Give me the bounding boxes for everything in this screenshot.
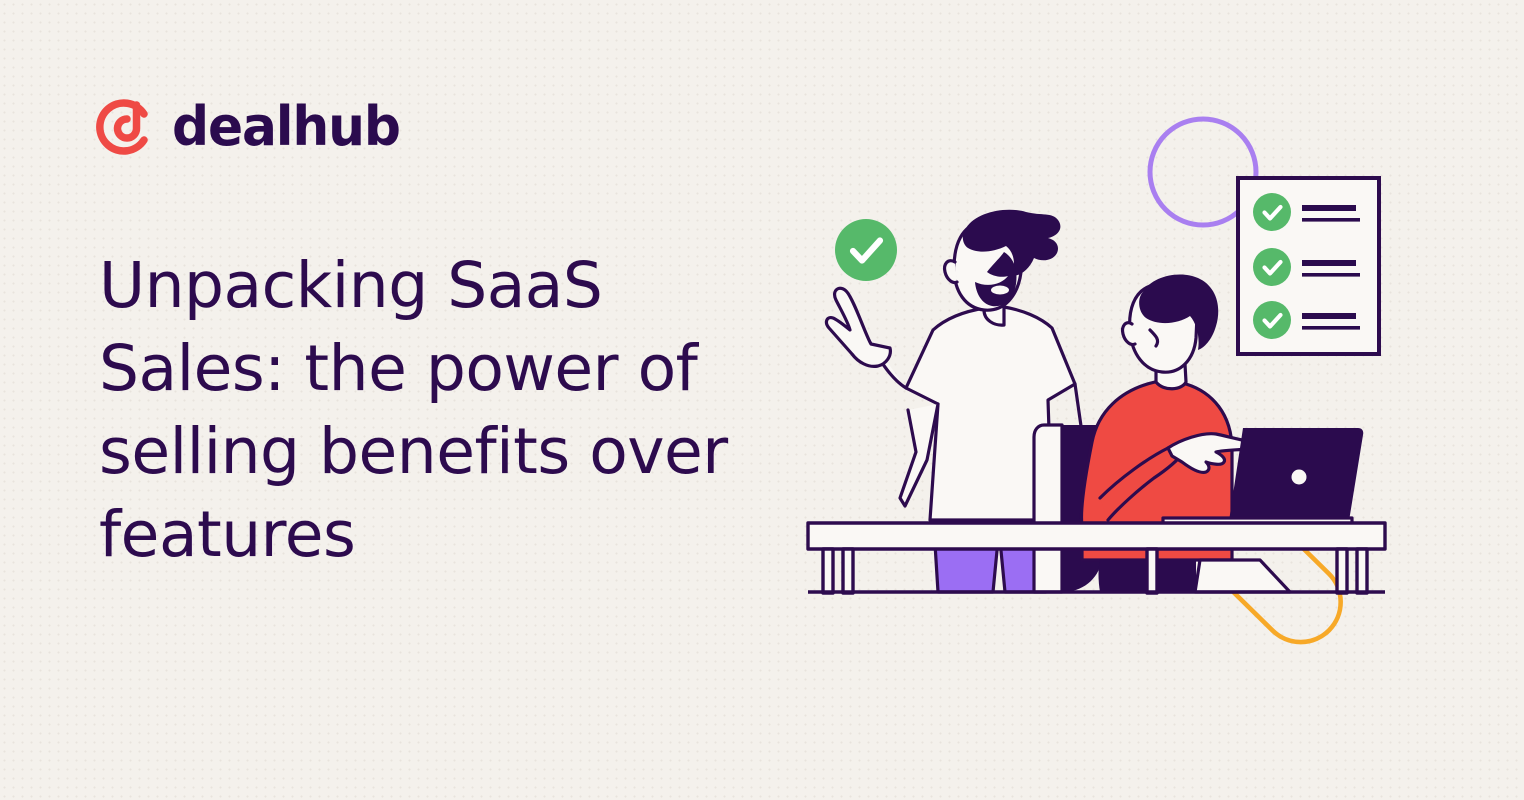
checklist-bar-long bbox=[1302, 218, 1360, 222]
checklist-bar-short bbox=[1302, 205, 1356, 211]
desk-leg bbox=[823, 549, 833, 593]
dealhub-logo[interactable]: dealhub bbox=[96, 96, 409, 158]
desk-leg bbox=[1357, 549, 1367, 593]
hero-banner: dealhub Unpacking SaaS Sales: the power … bbox=[0, 0, 1524, 800]
desk-leg bbox=[843, 549, 853, 593]
checklist-card bbox=[1238, 178, 1379, 354]
check-circle-icon bbox=[835, 219, 897, 281]
dealhub-logo-mark-icon bbox=[96, 96, 158, 158]
checklist-bar-short bbox=[1302, 260, 1356, 266]
check-circle-icon bbox=[1253, 193, 1291, 231]
laptop-logo-icon bbox=[1292, 470, 1307, 485]
desk-leg bbox=[1337, 549, 1347, 593]
floating-check-badge bbox=[835, 219, 897, 281]
desk-leg bbox=[1147, 549, 1157, 593]
checklist-bar-short bbox=[1302, 313, 1356, 319]
dealhub-logo-text: dealhub bbox=[172, 100, 400, 154]
check-circle-icon bbox=[1253, 301, 1291, 339]
standing-man-hand bbox=[826, 288, 890, 366]
check-circle-icon bbox=[1253, 248, 1291, 286]
desk-top bbox=[808, 523, 1385, 549]
checklist-bar-long bbox=[1302, 273, 1360, 277]
checklist-bar-long bbox=[1302, 326, 1360, 330]
page-title: Unpacking SaaS Sales: the power of selli… bbox=[99, 244, 779, 577]
